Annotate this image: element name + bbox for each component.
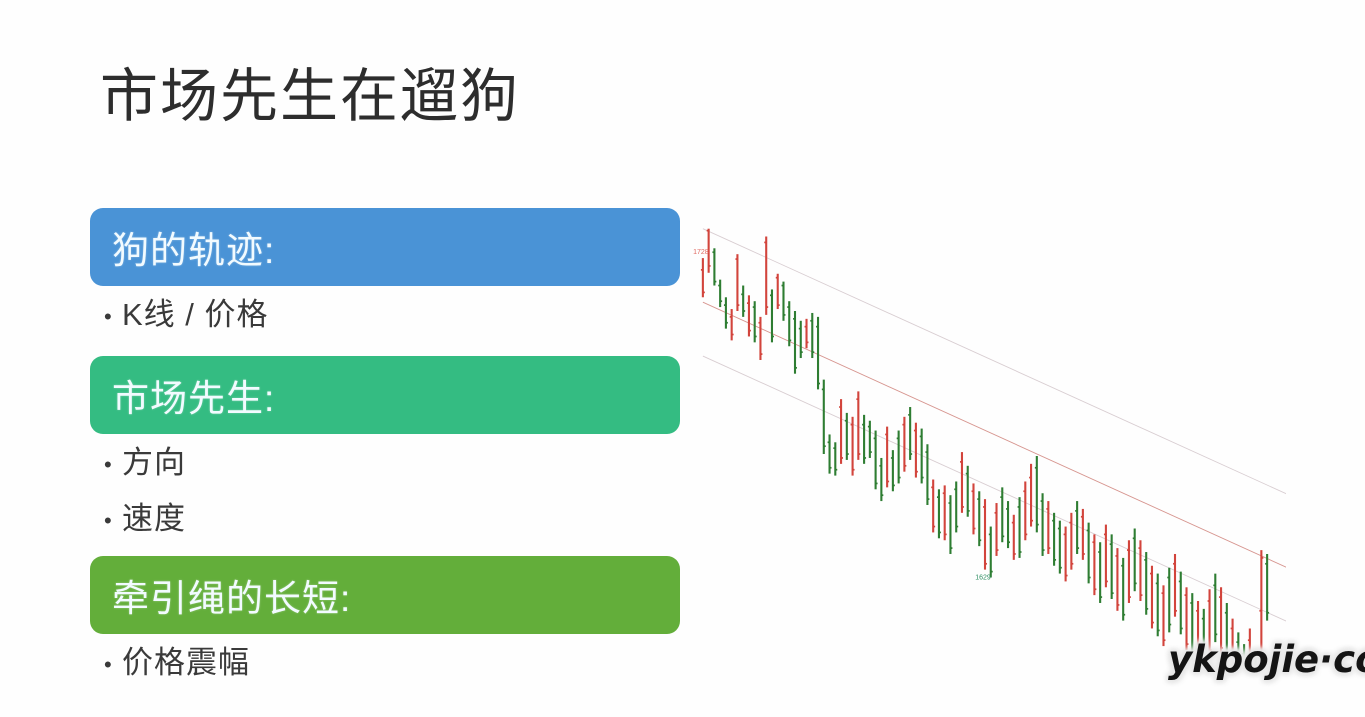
ohlc-bar [1029, 464, 1033, 527]
ohlc-bar [995, 503, 999, 556]
ohlc-bar [931, 480, 935, 533]
list-item: • 方向 [90, 434, 680, 490]
spacer [90, 546, 680, 556]
ohlc-bar [747, 295, 751, 336]
ohlc-bar [1150, 566, 1154, 629]
section-banner-mr-market[interactable]: 市场先生: [90, 356, 680, 434]
ohlc-bar [753, 301, 757, 342]
ohlc-bar [822, 380, 826, 454]
ohlc-bar [1035, 456, 1039, 532]
section-leash-length: 牵引绳的长短: • 价格震幅 [90, 556, 680, 690]
bullet-list-leash-length: • 价格震幅 [90, 634, 680, 690]
ohlc-bar [1000, 487, 1004, 542]
ohlc-bar [839, 399, 843, 464]
ohlc-bar [1179, 572, 1183, 635]
bullet-dot-icon: • [104, 510, 122, 532]
ohlc-bar [764, 237, 768, 315]
ohlc-bar [851, 417, 855, 476]
ohlc-bar [1173, 554, 1177, 617]
ohlc-bar [701, 258, 705, 297]
ohlc-bar [977, 491, 981, 546]
ohlc-bar [776, 274, 780, 309]
ohlc-bar [1075, 501, 1079, 554]
ohlc-bar [1110, 534, 1114, 599]
ohlc-bar [1018, 497, 1022, 558]
ohlc-bar [1092, 534, 1096, 595]
ohlc-bar [868, 421, 872, 458]
ohlc-bar [718, 280, 722, 307]
section-banner-dog-track[interactable]: 狗的轨迹: [90, 208, 680, 286]
ohlc-bar [1144, 552, 1148, 615]
ohlc-bar [1162, 585, 1166, 646]
ohlc-bar [879, 458, 883, 501]
ohlc-bar [960, 452, 964, 513]
ohlc-bar [1041, 493, 1045, 556]
site-watermark: ykpojie·com [1168, 638, 1365, 681]
ohlc-bar [787, 301, 791, 346]
section-banner-leash-length[interactable]: 牵引绳的长短: [90, 556, 680, 634]
list-item: • 速度 [90, 490, 680, 546]
chart-annotation: 1629 [975, 575, 991, 582]
ohlc-bar [1098, 542, 1102, 603]
price-chart: 17281629 [686, 196, 1286, 666]
list-item: • K线 / 价格 [90, 286, 680, 342]
ohlc-bar [989, 527, 993, 578]
ohlc-bar [805, 319, 809, 348]
chart-channels [703, 229, 1286, 626]
ohlc-bar [1006, 501, 1010, 548]
ohlc-bar [972, 483, 976, 534]
ohlc-bar [1012, 515, 1016, 560]
ohlc-bar [845, 413, 849, 460]
ohlc-bar [712, 248, 716, 285]
bullet-text: K线 / 价格 [122, 299, 269, 330]
ohlc-bar [1127, 540, 1131, 603]
ohlc-bar [741, 286, 745, 317]
ohlc-bar [730, 309, 734, 340]
list-item: • 价格震幅 [90, 634, 680, 690]
ohlc-bar [758, 317, 762, 360]
ohlc-bar [937, 489, 941, 538]
ohlc-bar [833, 442, 837, 475]
ohlc-bar [874, 431, 878, 490]
ohlc-bar [1265, 554, 1269, 621]
spacer [90, 342, 680, 356]
channel-line-upper [703, 229, 1286, 498]
ohlc-bar [885, 427, 889, 488]
ohlc-bar [816, 317, 820, 390]
ohlc-chart-svg: 17281629 [686, 196, 1286, 666]
section-dog-track: 狗的轨迹: • K线 / 价格 [90, 208, 680, 342]
ohlc-bar [1052, 513, 1056, 566]
ohlc-bar [1213, 574, 1217, 643]
ohlc-bar [1167, 568, 1171, 633]
channel-line-lower [703, 356, 1286, 625]
ohlc-bar [799, 321, 803, 358]
ohlc-bar [1081, 509, 1085, 560]
ohlc-bar [1156, 574, 1160, 637]
bullet-dot-icon: • [104, 306, 122, 328]
ohlc-bar [902, 417, 906, 472]
ohlc-bar [782, 282, 786, 321]
ohlc-bar [925, 444, 929, 505]
ohlc-bar [897, 431, 901, 484]
bullet-dot-icon: • [104, 454, 122, 476]
bullet-list-mr-market: • 方向 • 速度 [90, 434, 680, 546]
bullet-text: 方向 [122, 447, 186, 478]
ohlc-bar [948, 495, 952, 554]
bullet-text: 价格震幅 [122, 647, 250, 678]
ohlc-bar [954, 481, 958, 532]
bullet-list-dog-track: • K线 / 价格 [90, 286, 680, 342]
ohlc-bar [1138, 540, 1142, 601]
page-title: 市场先生在遛狗 [100, 64, 520, 131]
ohlc-bar [908, 407, 912, 460]
ohlc-bar [966, 466, 970, 517]
bullet-dot-icon: • [104, 654, 122, 676]
ohlc-bar [1104, 525, 1108, 588]
content-column: 狗的轨迹: • K线 / 价格 市场先生: • 方向 • 速度 [90, 208, 680, 690]
ohlc-bar [1121, 558, 1125, 621]
ohlc-bar [793, 311, 797, 374]
ohlc-bar [1115, 548, 1119, 611]
ohlc-bar [1046, 501, 1050, 554]
ohlc-bar [862, 415, 866, 464]
section-mr-market: 市场先生: • 方向 • 速度 [90, 356, 680, 546]
ohlc-bar [983, 499, 987, 570]
ohlc-bar [1023, 481, 1027, 540]
ohlc-bar [735, 254, 739, 311]
ohlc-bar [1058, 521, 1062, 574]
ohlc-bar [1064, 527, 1068, 582]
slide-canvas: 市场先生在遛狗 狗的轨迹: • K线 / 价格 市场先生: • 方向 [0, 0, 1365, 717]
ohlc-bar [1069, 513, 1073, 570]
ohlc-bar [943, 485, 947, 540]
channel-line-middle [703, 302, 1286, 571]
ohlc-bar [1133, 529, 1137, 592]
ohlc-bar [914, 423, 918, 478]
ohlc-bar [891, 450, 895, 491]
bullet-text: 速度 [122, 503, 186, 534]
chart-annotation: 1728 [693, 249, 709, 256]
ohlc-bar [828, 434, 832, 473]
